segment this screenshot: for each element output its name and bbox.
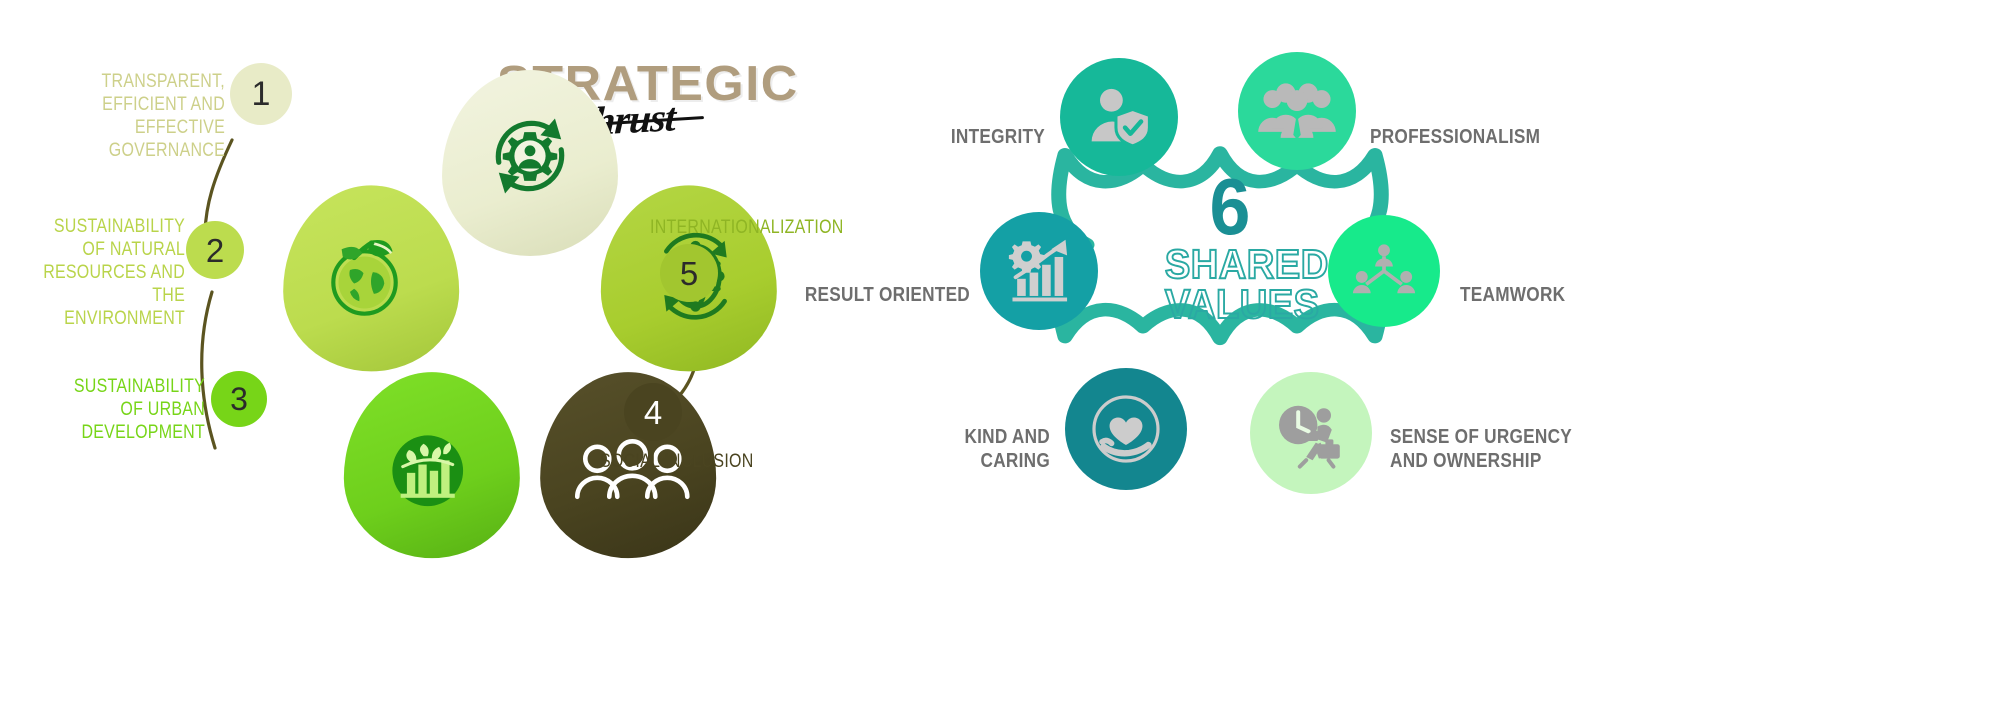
label-governance: TRANSPARENT, EFFICIENT AND EFFECTIVE GOV…: [10, 70, 225, 162]
shared-values-panel: 6 SHARED VALUES INTEGRITY: [860, 0, 2000, 706]
label-urban-development: SUSTAINABILITY OF URBAN DEVELOPMENT: [20, 375, 205, 444]
hand-heart-icon: [1086, 389, 1166, 469]
values-line1: SHARED: [1165, 244, 1295, 284]
value-circle-teamwork: [1328, 215, 1440, 327]
value-label-result-oriented: RESULT ORIENTED: [755, 258, 970, 332]
value-label-kind-caring: KIND AND CARING: [870, 400, 1050, 498]
people-group-icon: [1256, 73, 1338, 149]
value-circle-integrity: [1060, 58, 1178, 176]
network-people-icon: [1347, 234, 1421, 308]
strategic-thrust-panel: STRATEGIC Thrust: [0, 0, 860, 706]
value-circle-professionalism: [1238, 52, 1356, 170]
badge-4: 4: [624, 383, 682, 441]
shared-values-text: 6 SHARED VALUES: [1160, 170, 1300, 324]
value-circle-urgency: [1250, 372, 1372, 494]
clock-running-person-icon: [1271, 393, 1351, 473]
person-shield-check-icon: [1081, 79, 1157, 155]
label-internationalization: INTERNATIONALIZATION: [650, 216, 880, 239]
value-label-urgency: SENSE OF URGENCY AND OWNERSHIP: [1390, 400, 1650, 498]
values-line2: VALUES: [1165, 284, 1295, 324]
value-label-integrity: INTEGRITY: [890, 100, 1045, 174]
badge-2: 2: [186, 221, 244, 279]
badge-3: 3: [211, 371, 267, 427]
label-natural-resources: SUSTAINABILITY OF NATURAL RESOURCES AND …: [10, 215, 185, 330]
bar-chart-growth-gear-icon: [1000, 232, 1078, 310]
badge-5: 5: [660, 244, 718, 302]
values-count: 6: [1166, 170, 1295, 244]
label-social-inclusion: SOCIAL INCLUSION: [600, 450, 800, 473]
value-circle-kind-caring: [1065, 368, 1187, 490]
infographic-canvas: STRATEGIC Thrust: [0, 0, 2000, 706]
value-label-professionalism: PROFESSIONALISM: [1370, 100, 1620, 174]
value-label-teamwork: TEAMWORK: [1460, 258, 1680, 332]
badge-1: 1: [230, 63, 292, 125]
value-circle-result-oriented: [980, 212, 1098, 330]
